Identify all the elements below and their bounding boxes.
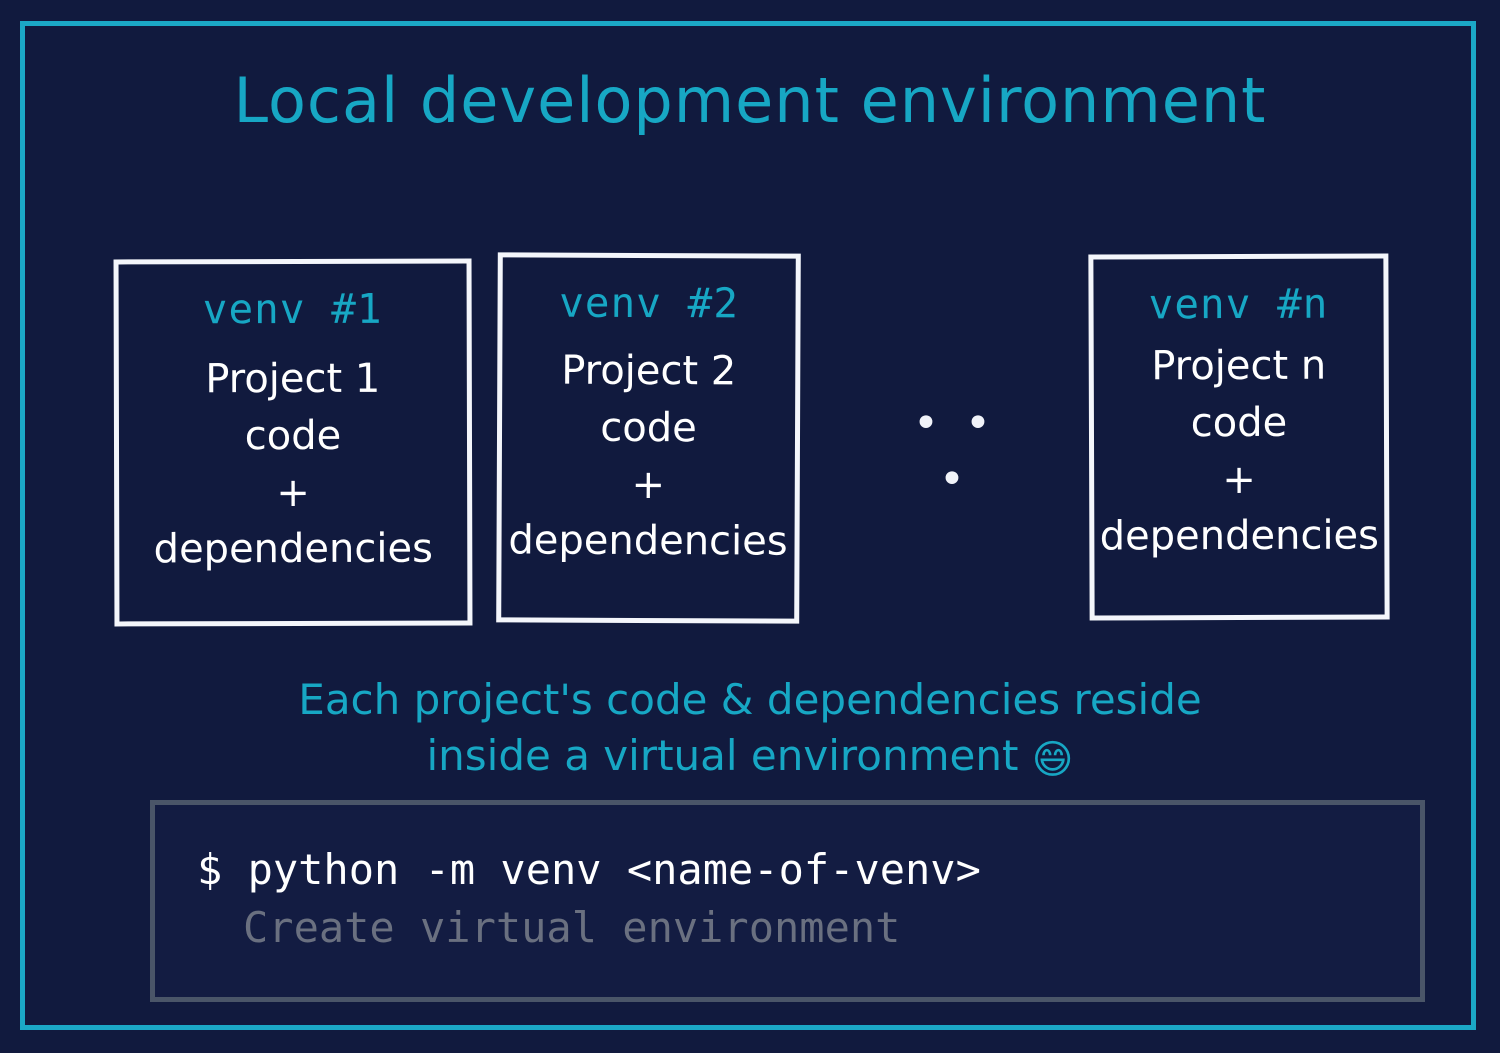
- caption-line-1: Each project's code & dependencies resid…: [0, 672, 1500, 728]
- venv-box-n-line-2: code: [1099, 394, 1378, 452]
- venv-box-1-content: Project 1 code + dependencies: [153, 351, 433, 579]
- venv-box-2-line-2: code: [509, 399, 789, 457]
- venv-box-2-line-3: +: [509, 456, 789, 514]
- terminal-command: $ python -m venv <name-of-venv>: [197, 841, 1420, 899]
- venv-box-2-line-1: Project 2: [509, 342, 789, 400]
- venv-box-2-content: Project 2 code + dependencies: [508, 342, 788, 570]
- grinning-face-icon: 😄: [1032, 737, 1074, 783]
- caption: Each project's code & dependencies resid…: [0, 672, 1500, 788]
- caption-line-2: inside a virtual environment 😄: [0, 728, 1500, 788]
- venv-box-1: venv #1 Project 1 code + dependencies: [114, 259, 473, 627]
- venv-box-1-label: venv #1: [203, 285, 383, 333]
- ellipsis-separator: • • •: [900, 396, 1010, 508]
- venv-box-n-content: Project n code + dependencies: [1099, 338, 1379, 566]
- venv-box-1-line-2: code: [153, 407, 432, 465]
- venv-box-n-line-4: dependencies: [1100, 508, 1379, 566]
- venv-box-n-label: venv #n: [1149, 280, 1329, 329]
- venv-box-n: venv #n Project n code + dependencies: [1088, 253, 1389, 620]
- venv-box-1-line-4: dependencies: [154, 521, 433, 579]
- venv-box-n-line-1: Project n: [1099, 338, 1378, 396]
- venv-box-2: venv #2 Project 2 code + dependencies: [496, 252, 801, 623]
- terminal-block: $ python -m venv <name-of-venv> Create v…: [150, 800, 1425, 1002]
- venv-box-2-label: venv #2: [559, 279, 739, 328]
- page-title: Local development environment: [0, 64, 1500, 137]
- venv-box-2-line-4: dependencies: [508, 513, 788, 571]
- venv-box-1-line-1: Project 1: [153, 351, 432, 409]
- terminal-comment: Create virtual environment: [197, 899, 1420, 957]
- venv-box-1-line-3: +: [153, 464, 432, 522]
- slide-canvas: Local development environment venv #1 Pr…: [0, 0, 1500, 1053]
- venv-box-n-line-3: +: [1099, 451, 1378, 509]
- caption-line-2-text: inside a virtual environment: [427, 731, 1019, 780]
